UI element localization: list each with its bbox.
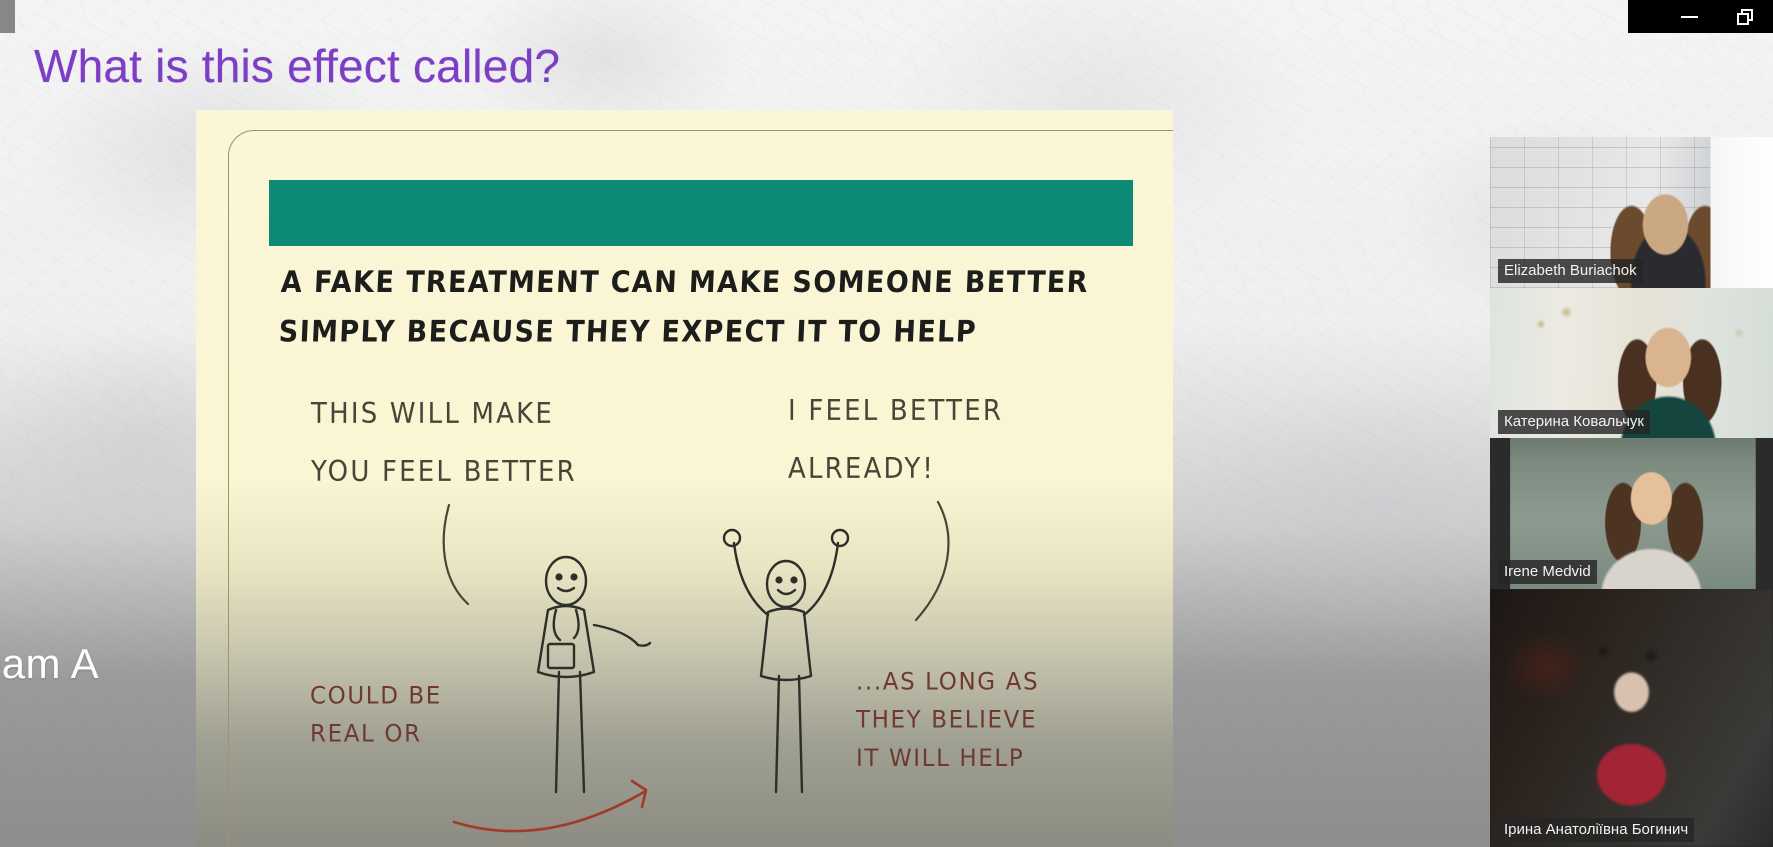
handwritten-headline: A FAKE TREATMENT CAN MAKE SOMEONE BETTER…: [278, 258, 1142, 357]
speech-bubble-right-text: I FEEL BETTER ALREADY!: [788, 382, 1003, 499]
caption-as-long-as-they-believe: ...AS LONG AS THEY BELIEVE IT WILL HELP: [856, 663, 1039, 777]
participant-filmstrip[interactable]: Elizabeth Buriachok Катерина Ковальчук I…: [1490, 0, 1773, 847]
team-label: eam A: [0, 640, 99, 688]
participant-tile[interactable]: Катерина Ковальчук: [1490, 288, 1773, 439]
teal-title-banner: [269, 180, 1133, 246]
participant-name: Ірина Анатоліївна Богинич: [1498, 818, 1694, 842]
speech-bubble-left-text: THIS WILL MAKE YOU FEEL BETTER: [311, 385, 577, 502]
participant-tile[interactable]: Elizabeth Buriachok: [1490, 137, 1773, 288]
participant-tile[interactable]: Ірина Анатоліївна Богинич: [1490, 589, 1773, 847]
page-title: What is this effect called?: [34, 40, 560, 93]
minimize-button[interactable]: [1661, 0, 1717, 33]
slide-illustration-card: A FAKE TREATMENT CAN MAKE SOMEONE BETTER…: [196, 110, 1173, 847]
screen-edge-tab: [0, 0, 15, 33]
participant-name: Elizabeth Buriachok: [1498, 259, 1643, 283]
window-controls: [1628, 0, 1773, 33]
participant-video: [1490, 589, 1773, 847]
caption-could-be-real: COULD BE REAL OR: [310, 677, 442, 753]
restore-icon: [1737, 9, 1753, 25]
participant-name: Катерина Ковальчук: [1498, 410, 1650, 434]
participant-tile[interactable]: Irene Medvid: [1490, 438, 1773, 589]
restore-button[interactable]: [1717, 0, 1773, 33]
meeting-screen-share-view: What is this effect called? eam A A FAKE…: [0, 0, 1773, 847]
minimize-icon: [1681, 16, 1698, 18]
participant-name: Irene Medvid: [1498, 560, 1597, 584]
